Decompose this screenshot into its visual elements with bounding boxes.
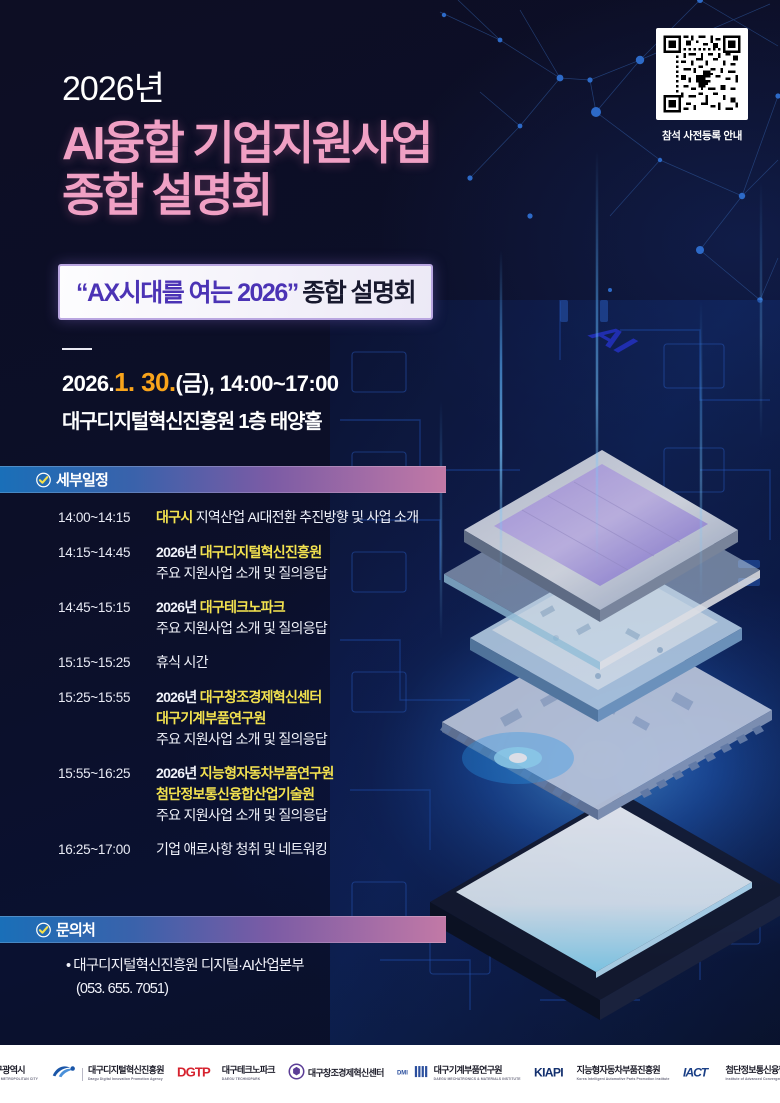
subtitle-ribbon: “AX시대를 여는 2026” 종합 설명회 xyxy=(58,264,433,320)
contact-list: • 대구디지털혁신진흥원 디지털·AI산업본부 (053. 655. 7051) xyxy=(0,955,520,1001)
schedule-line-rest: 주요 지원사업 소개 및 질의응답 xyxy=(156,620,327,636)
footer-logo-name-en: Korea Intelligent Automotive Parts Promo… xyxy=(577,1077,670,1081)
schedule-line-highlight: 대구창조경제혁신센터 xyxy=(200,689,322,705)
schedule-line-highlight: 대구테크노파크 xyxy=(200,599,285,615)
footer-logo-name-en: Daegu Digital Innovation Promotion Agenc… xyxy=(88,1077,164,1081)
qr-label: 참석 사전등록 안내 xyxy=(656,128,748,143)
qr-registration-block[interactable]: 참석 사전등록 안내 xyxy=(656,28,748,143)
footer-logo-name-ko: 지능형자동차부품진흥원 xyxy=(577,1066,670,1076)
footer-logo-text: 대구기계부품연구원DAEGU MECHATRONICS & MATERIALS … xyxy=(434,1066,521,1081)
logo-divider xyxy=(82,1068,83,1081)
date-highlight: 1. 30. xyxy=(114,367,175,397)
footer-logo-text: 지능형자동차부품진흥원Korea Intelligent Automotive … xyxy=(577,1066,670,1081)
schedule-section: 세부일정 14:00~14:15대구시 지역산업 AI대전환 추진방향 및 사업… xyxy=(0,466,520,874)
svg-text:IACT: IACT xyxy=(683,1065,710,1079)
schedule-line: 주요 지원사업 소개 및 질의응답 xyxy=(156,729,520,750)
schedule-row: 14:45~15:152026년 대구테크노파크주요 지원사업 소개 및 질의응… xyxy=(58,597,520,639)
schedule-time: 15:25~15:55 xyxy=(58,687,156,709)
schedule-row: 15:25~15:552026년 대구창조경제혁신센터대구기계부품연구원주요 지… xyxy=(58,687,520,750)
date-suffix: (금), 14:00~17:00 xyxy=(176,371,339,396)
footer-logo-name-en: DAEGU MECHATRONICS & MATERIALS INSTITUTE xyxy=(434,1077,521,1081)
schedule-line: 2026년 대구테크노파크 xyxy=(156,597,520,618)
schedule-line-rest: 주요 지원사업 소개 및 질의응답 xyxy=(156,565,327,581)
check-circle-icon xyxy=(36,472,51,487)
footer-logo[interactable]: DMI 대구기계부품연구원DAEGU MECHATRONICS & MATERI… xyxy=(397,1064,521,1085)
svg-text:KIAPI: KIAPI xyxy=(534,1065,563,1079)
footer-logo[interactable]: DGTP 대구테크노파크DAEGU TECHNOPARK xyxy=(177,1064,275,1085)
schedule-line: 주요 지원사업 소개 및 질의응답 xyxy=(156,563,520,584)
schedule-body: 2026년 대구디지털혁신진흥원주요 지원사업 소개 및 질의응답 xyxy=(156,542,520,584)
schedule-line-prefix: 2026년 xyxy=(156,765,200,781)
schedule-row: 15:55~16:252026년 지능형자동차부품연구원첨단정보통신융합산업기술… xyxy=(58,763,520,826)
contact-section-title: 문의처 xyxy=(56,919,95,940)
schedule-section-bar: 세부일정 xyxy=(0,466,446,493)
schedule-body: 기업 애로사항 청취 및 네트워킹 xyxy=(156,839,520,860)
divider-rule xyxy=(62,348,92,350)
chip-ai-label: AI xyxy=(580,320,647,358)
schedule-line: 2026년 대구창조경제혁신센터 xyxy=(156,687,520,708)
contact-phone[interactable]: (053. 655. 7051) xyxy=(66,978,520,1001)
poster-root: AI xyxy=(0,0,780,1103)
schedule-line: 휴식 시간 xyxy=(156,652,520,673)
svg-text:DMI: DMI xyxy=(397,1070,408,1076)
footer-logo-text: 대구디지털혁신진흥원Daegu Digital Innovation Promo… xyxy=(88,1066,164,1081)
footer-logo-name-en: DAEGU METROPOLITAN CITY xyxy=(0,1077,38,1081)
qr-code-icon[interactable] xyxy=(656,28,748,120)
schedule-time: 14:45~15:15 xyxy=(58,597,156,619)
subtitle-quote: “AX시대를 여는 2026” xyxy=(76,279,298,307)
schedule-time: 15:55~16:25 xyxy=(58,763,156,785)
schedule-line-prefix: 2026년 xyxy=(156,544,200,560)
page-title: AI융합 기업지원사업 종합 설명회 xyxy=(62,117,431,222)
footer-logo-text: 대구테크노파크DAEGU TECHNOPARK xyxy=(222,1066,275,1081)
title-line-1: AI융합 기업지원사업 xyxy=(62,117,431,169)
kiapi-icon: KIAPI xyxy=(534,1064,574,1085)
footer-logo-text: 대구창조경제혁신센터 xyxy=(308,1069,384,1079)
dgtp-icon: DGTP xyxy=(177,1064,219,1085)
footer-logo[interactable]: 대구창조경제혁신센터 xyxy=(288,1063,384,1085)
footer-logo-name-en: DAEGU TECHNOPARK xyxy=(222,1077,275,1081)
footer-logo-name-ko: 대구창조경제혁신센터 xyxy=(308,1069,384,1079)
dmi-bars-icon: DMI xyxy=(397,1064,431,1085)
schedule-line: 기업 애로사항 청취 및 네트워킹 xyxy=(156,839,520,860)
schedule-row: 14:00~14:15대구시 지역산업 AI대전환 추진방향 및 사업 소개 xyxy=(58,507,520,529)
footer-logo-name-ko: 대구테크노파크 xyxy=(222,1066,275,1076)
schedule-line-prefix: 2026년 xyxy=(156,689,200,705)
poster-year: 2026년 xyxy=(62,72,431,108)
footer-logo-name-ko: 첨단정보통신융합산업기술원 xyxy=(726,1066,780,1076)
schedule-line-highlight: 첨단정보통신융합산업기술원 xyxy=(156,786,314,802)
footer-logo-name-ko: 대구디지털혁신진흥원 xyxy=(88,1066,164,1076)
schedule-line-rest: 기업 애로사항 청취 및 네트워킹 xyxy=(156,841,327,857)
schedule-body: 2026년 지능형자동차부품연구원첨단정보통신융합산업기술원주요 지원사업 소개… xyxy=(156,763,520,826)
schedule-line: 2026년 지능형자동차부품연구원 xyxy=(156,763,520,784)
schedule-line-highlight: 대구기계부품연구원 xyxy=(156,710,266,726)
footer-logo[interactable]: IACT 첨단정보통신융합산업기술원Institute of Advanced … xyxy=(683,1064,780,1085)
date-prefix: 2026. xyxy=(62,371,114,396)
title-line-2: 종합 설명회 xyxy=(62,169,431,221)
schedule-line: 주요 지원사업 소개 및 질의응답 xyxy=(156,618,520,639)
schedule-line-rest: 휴식 시간 xyxy=(156,654,208,670)
schedule-line-prefix: 2026년 xyxy=(156,599,200,615)
footer-logo-text: 첨단정보통신융합산업기술원Institute of Advanced Conve… xyxy=(726,1066,780,1081)
schedule-time: 14:00~14:15 xyxy=(58,507,156,529)
schedule-line-rest: 주요 지원사업 소개 및 질의응답 xyxy=(156,807,327,823)
schedule-line-rest: 주요 지원사업 소개 및 질의응답 xyxy=(156,731,327,747)
footer-logo-name-ko: 대구광역시 xyxy=(0,1066,38,1076)
footer-logo[interactable]: KIAPI 지능형자동차부품진흥원Korea Intelligent Autom… xyxy=(534,1064,670,1085)
schedule-time: 16:25~17:00 xyxy=(58,839,156,861)
schedule-line: 주요 지원사업 소개 및 질의응답 xyxy=(156,805,520,826)
schedule-line: 대구시 지역산업 AI대전환 추진방향 및 사업 소개 xyxy=(156,507,520,528)
footer-logo-strip: DAEGU 대구광역시DAEGU METROPOLITAN CITY 대구디지털… xyxy=(0,1045,780,1103)
schedule-body: 대구시 지역산업 AI대전환 추진방향 및 사업 소개 xyxy=(156,507,520,528)
schedule-row: 14:15~14:452026년 대구디지털혁신진흥원주요 지원사업 소개 및 … xyxy=(58,542,520,584)
schedule-row: 16:25~17:00기업 애로사항 청취 및 네트워킹 xyxy=(58,839,520,861)
footer-logo[interactable]: 대구디지털혁신진흥원Daegu Digital Innovation Promo… xyxy=(51,1064,164,1085)
check-circle-icon xyxy=(36,922,51,937)
footer-logo-text: 대구광역시DAEGU METROPOLITAN CITY xyxy=(0,1066,38,1081)
ccei-hexagon-icon xyxy=(288,1063,305,1085)
schedule-time: 14:15~14:45 xyxy=(58,542,156,564)
subtitle-tail: 종합 설명회 xyxy=(302,279,415,307)
contact-org: • 대구디지털혁신진흥원 디지털·AI산업본부 xyxy=(66,955,520,978)
dip-swoosh-icon xyxy=(51,1064,77,1085)
schedule-line-highlight: 지능형자동차부품연구원 xyxy=(200,765,334,781)
schedule-body: 2026년 대구창조경제혁신센터대구기계부품연구원주요 지원사업 소개 및 질의… xyxy=(156,687,520,750)
schedule-list: 14:00~14:15대구시 지역산업 AI대전환 추진방향 및 사업 소개14… xyxy=(0,507,520,861)
footer-logo-name-en: Institute of Advanced Convergence Techno… xyxy=(726,1077,780,1081)
footer-logo-name-ko: 대구기계부품연구원 xyxy=(434,1066,521,1076)
schedule-line-rest: 지역산업 AI대전환 추진방향 및 사업 소개 xyxy=(193,509,419,525)
svg-text:DGTP: DGTP xyxy=(177,1064,211,1079)
schedule-body: 휴식 시간 xyxy=(156,652,520,673)
contact-section-bar: 문의처 xyxy=(0,916,446,943)
event-date: 2026.1. 30.(금), 14:00~17:00 xyxy=(62,366,338,399)
date-venue-block: 2026.1. 30.(금), 14:00~17:00 대구디지털혁신진흥원 1… xyxy=(62,366,338,434)
schedule-line-highlight: 대구시 xyxy=(156,509,193,525)
schedule-line: 첨단정보통신융합산업기술원 xyxy=(156,784,520,805)
schedule-line: 2026년 대구디지털혁신진흥원 xyxy=(156,542,520,563)
footer-logo[interactable]: DAEGU 대구광역시DAEGU METROPOLITAN CITY xyxy=(0,1063,38,1085)
event-venue: 대구디지털혁신진흥원 1층 태양홀 xyxy=(62,405,338,434)
schedule-section-title: 세부일정 xyxy=(56,469,108,490)
schedule-line: 대구기계부품연구원 xyxy=(156,708,520,729)
iact-icon: IACT xyxy=(683,1064,723,1085)
schedule-line-highlight: 대구디지털혁신진흥원 xyxy=(200,544,322,560)
headline-block: 2026년 AI융합 기업지원사업 종합 설명회 xyxy=(62,72,431,222)
schedule-row: 15:15~15:25휴식 시간 xyxy=(58,652,520,674)
schedule-time: 15:15~15:25 xyxy=(58,652,156,674)
schedule-body: 2026년 대구테크노파크주요 지원사업 소개 및 질의응답 xyxy=(156,597,520,639)
contact-section: 문의처 • 대구디지털혁신진흥원 디지털·AI산업본부 (053. 655. 7… xyxy=(0,916,520,1001)
